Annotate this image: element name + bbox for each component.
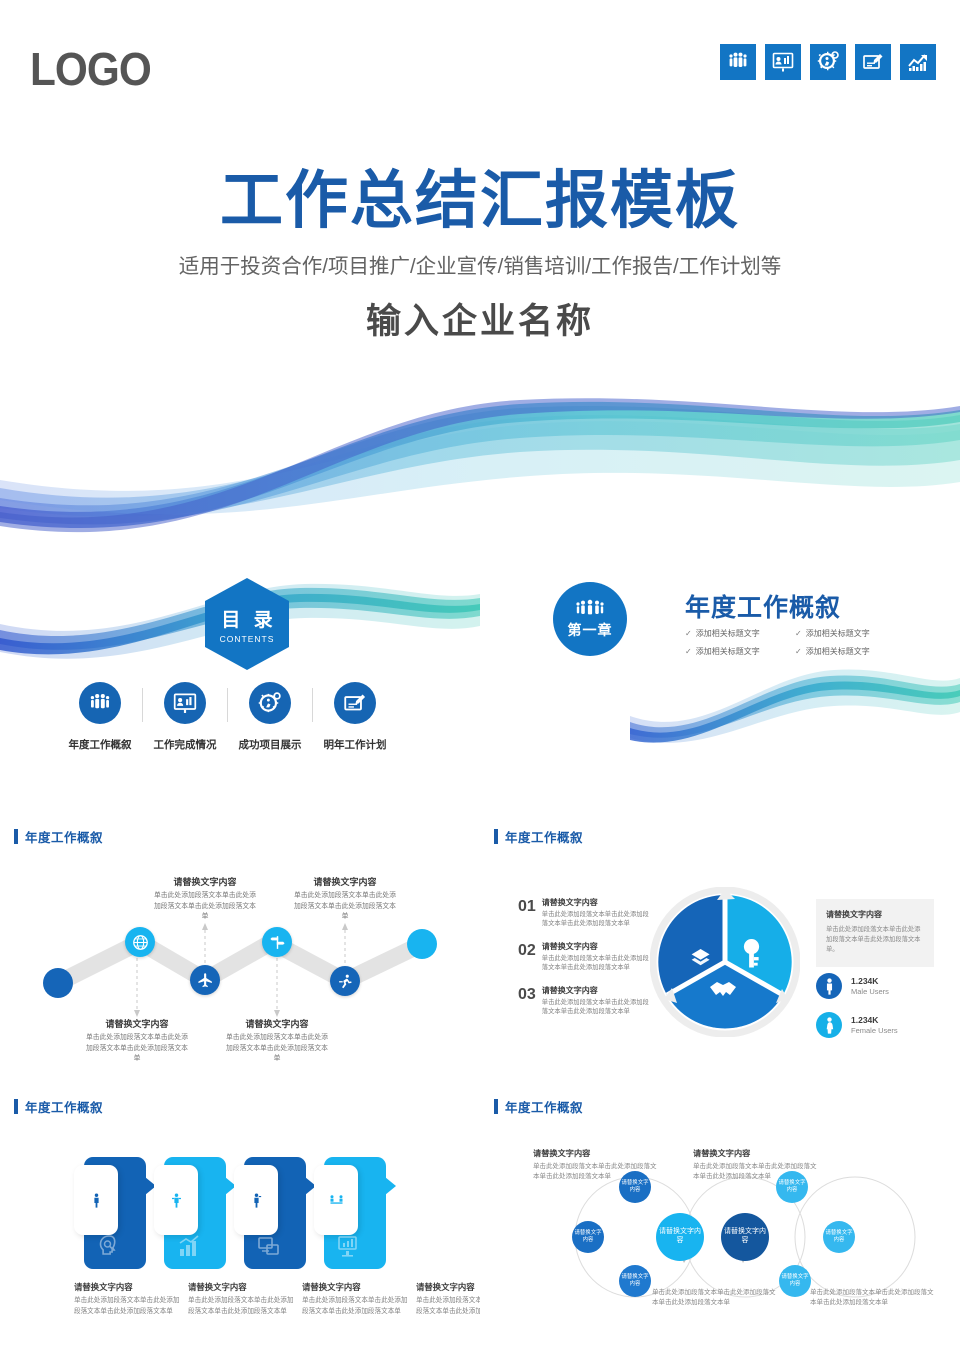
bar-chart-icon [176,1233,202,1259]
zigzag-slide: 年度工作概叙 [0,815,480,1085]
card-icon-panel [74,1165,118,1235]
zigzag-text-3: 请替换文字内容 单击此处添加段落文本单击此处添加段落文本单击此处添加段落文本单 [291,875,399,923]
stat-label: Male Users [851,987,889,996]
wave-graphic-cover [0,380,960,560]
stat-value: 1.234K [851,1015,898,1025]
people-group-icon [79,682,121,724]
male-icon [816,973,842,999]
zigzag-body: 单击此处添加段落文本单击此处添加段落文本单击此处添加段落文本单 [291,891,399,923]
pie-legend-body: 单击此处添加段落文本单击此处添加段落文本单击此处添加段落文本单 [542,910,653,929]
zigzag-body: 单击此处添加段落文本单击此处添加段落文本单击此处添加段落文本单 [83,1033,191,1065]
card-3[interactable] [324,1157,386,1269]
presentation-chart-icon [164,682,206,724]
chapter-badge: 第一章 [553,582,627,656]
cover-icon-row [720,44,936,80]
presentation-chart-icon [765,44,801,80]
pie-legend-list: 01 请替换文字内容 单击此处添加段落文本单击此处添加段落文本单击此处添加段落文… [518,897,653,1029]
cover-main-title: 工作总结汇报模板 [0,168,960,235]
zigzag-text-2: 请替换文字内容 单击此处添加段落文本单击此处添加段落文本单击此处添加段落文本单 [223,1017,331,1065]
stat-male: 1.234K Male Users [816,973,889,999]
cards-slide: 年度工作概叙 [0,1085,480,1352]
card-1[interactable] [164,1157,226,1269]
zigzag-text-0: 请替换文字内容 单击此处添加段落文本单击此处添加段落文本单击此处添加段落文本单 [83,1017,191,1065]
pie-legend-number: 01 [518,897,536,929]
zigzag-body: 单击此处添加段落文本单击此处添加段落文本单击此处添加段落文本单 [151,891,259,923]
contents-item-1[interactable]: 工作完成情况 [143,682,227,752]
pie-box-heading: 请替换文字内容 [826,909,924,920]
gear-person-icon [810,44,846,80]
pie-legend-number: 03 [518,985,536,1017]
zigzag-diagram: 请替换文字内容 单击此处添加段落文本单击此处添加段落文本单击此处添加段落文本单 … [0,815,480,1085]
section-accent-bar [494,829,498,844]
zigzag-end-node [407,929,437,959]
network-body: 单击此处添加段落文本单击此处添加段落文本单击此处添加段落文本单 [810,1288,938,1309]
cover-sub-title: 适用于投资合作/项目推广/企业宣传/销售培训/工作报告/工作计划等 [0,249,960,279]
person-icon [89,1193,104,1208]
network-node-1[interactable]: 请替换文字内容 [572,1221,604,1253]
gear-person-icon [249,682,291,724]
airplane-icon[interactable] [190,965,220,995]
network-diagram: 请替换文字内容 请替换文字内容 请替换文字内容 请替换文字内容 请替换文字内容 … [480,1085,960,1352]
wave-graphic-chapter [630,650,960,755]
cover-slide: LOGO 工作总结汇报模板 适用于投资合作/项目推广/企业宣传/销售培训/工作报… [0,0,960,560]
pie-legend-body: 单击此处添加段落文本单击此处添加段落文本单击此处添加段落文本单 [542,954,653,973]
contents-item-3[interactable]: 明年工作计划 [313,682,397,752]
edit-document-icon [334,682,376,724]
card-pointer [385,1177,396,1195]
contents-item-0[interactable]: 年度工作概叙 [58,682,142,752]
pie-legend-row: 01 请替换文字内容 单击此处添加段落文本单击此处添加段落文本单击此处添加段落文… [518,897,653,929]
contents-item-label: 成功项目展示 [239,737,302,752]
network-text-2: 单击此处添加段落文本单击此处添加段落文本单击此处添加段落文本单 [652,1288,780,1309]
network-hub-right[interactable]: 请替换文字内容 [721,1213,769,1261]
screen-share-icon [256,1233,282,1259]
card-2[interactable] [244,1157,306,1269]
network-text-0: 请替换文字内容 单击此处添加段落文本单击此处添加段落文本单击此处添加段落文本单 [533,1147,661,1183]
pie-legend-heading: 请替换文字内容 [542,941,653,952]
chapter-bullet: ✓添加相关标题文字 [685,628,795,639]
card-heading: 请替换文字内容 [416,1281,480,1293]
pie-legend-number: 02 [518,941,536,973]
check-icon: ✓ [685,629,692,638]
network-node-2[interactable]: 请替换文字内容 [619,1265,651,1297]
card-text-2: 请替换文字内容 单击此处添加段落文本单击此处添加段落文本单击此处添加段落文本单 [302,1281,410,1317]
card-heading: 请替换文字内容 [74,1281,182,1293]
contents-hex-en: CONTENTS [220,634,275,644]
section-title: 年度工作概叙 [505,827,583,846]
network-heading: 请替换文字内容 [693,1147,821,1159]
contents-item-label: 明年工作计划 [324,737,387,752]
network-body: 单击此处添加段落文本单击此处添加段落文本单击此处添加段落文本单 [533,1162,661,1183]
chapter-number: 第一章 [568,620,613,640]
section-title: 年度工作概叙 [25,1097,103,1116]
network-heading: 请替换文字内容 [533,1147,661,1159]
chapter-slide: 第一章 年度工作概叙 ✓添加相关标题文字 ✓添加相关标题文字 ✓添加相关标题文字… [480,560,960,815]
card-body: 单击此处添加段落文本单击此处添加段落文本单击此处添加段落文本单 [188,1296,296,1317]
section-header: 年度工作概叙 [14,1097,103,1116]
contents-slide: 目 录 CONTENTS 年度工作概叙 工作完成情况 [0,560,480,815]
logo-text: LOGO [30,42,151,96]
zigzag-body: 单击此处添加段落文本单击此处添加段落文本单击此处添加段落文本单 [223,1033,331,1065]
zigzag-start-node [43,968,73,998]
network-node-label: 请替换文字内容 [572,1230,604,1244]
stat-label: Female Users [851,1026,898,1035]
check-icon: ✓ [795,629,802,638]
network-hub-left[interactable]: 请替换文字内容 [656,1213,704,1261]
pie-description-box: 请替换文字内容 单击此处添加段落文本单击此处添加段落文本单击此处添加段落文本单。 [816,899,934,967]
pie-legend-heading: 请替换文字内容 [542,985,653,996]
card-body: 单击此处添加段落文本单击此处添加段落文本单击此处添加段落文本单 [416,1296,480,1317]
pie-legend-heading: 请替换文字内容 [542,897,653,908]
head-idea-icon [96,1233,122,1259]
zigzag-heading: 请替换文字内容 [151,875,259,888]
contents-item-row: 年度工作概叙 工作完成情况 成功项目展示 明年工作计 [58,682,438,752]
section-accent-bar [14,1099,18,1114]
chapter-bullet-label: 添加相关标题文字 [806,628,870,639]
signpost-icon[interactable] [262,927,292,957]
growth-chart-icon [900,44,936,80]
card-body: 单击此处添加段落文本单击此处添加段落文本单击此处添加段落文本单 [74,1296,182,1317]
cover-company-name: 输入企业名称 [0,293,960,344]
network-text-3: 单击此处添加段落文本单击此处添加段落文本单击此处添加段落文本单 [810,1288,938,1309]
people-group-icon [720,44,756,80]
zigzag-heading: 请替换文字内容 [291,875,399,888]
network-node-label: 请替换文字内容 [779,1274,811,1288]
network-node-label: 请替换文字内容 [619,1274,651,1288]
network-node-4[interactable]: 请替换文字内容 [823,1221,855,1253]
pie-chart-slide: 年度工作概叙 01 请替换文字内容 单击此处添加段落文本单击此处添加段落文本单击… [480,815,960,1085]
network-body: 单击此处添加段落文本单击此处添加段落文本单击此处添加段落文本单 [693,1162,821,1183]
female-icon [816,1012,842,1038]
card-text-0: 请替换文字内容 单击此处添加段落文本单击此处添加段落文本单击此处添加段落文本单 [74,1281,182,1317]
globe-icon[interactable] [125,927,155,957]
pie-legend-row: 02 请替换文字内容 单击此处添加段落文本单击此处添加段落文本单击此处添加段落文… [518,941,653,973]
zigzag-text-1: 请替换文字内容 单击此处添加段落文本单击此处添加段落文本单击此处添加段落文本单 [151,875,259,923]
contents-hex-cn: 目 录 [217,605,276,632]
stat-value: 1.234K [851,976,889,986]
network-hub-label: 请替换文字内容 [656,1228,704,1246]
edit-document-icon [855,44,891,80]
card-text-3: 请替换文字内容 单击此处添加段落文本单击此处添加段落文本单击此处添加段落文本单 [416,1281,480,1317]
pie-box-body: 单击此处添加段落文本单击此处添加段落文本单击此处添加段落文本单。 [826,925,924,955]
contents-item-label: 年度工作概叙 [69,737,132,752]
card-heading: 请替换文字内容 [188,1281,296,1293]
card-heading: 请替换文字内容 [302,1281,410,1293]
zigzag-heading: 请替换文字内容 [83,1017,191,1030]
pie-legend-body: 单击此处添加段落文本单击此处添加段落文本单击此处添加段落文本单 [542,998,653,1017]
zigzag-heading: 请替换文字内容 [223,1017,331,1030]
chapter-bullet: ✓添加相关标题文字 [795,628,905,639]
monitor-chart-icon [336,1233,362,1259]
chapter-title: 年度工作概叙 [685,588,841,624]
pie-legend-row: 03 请替换文字内容 单击此处添加段落文本单击此处添加段落文本单击此处添加段落文… [518,985,653,1017]
card-body: 单击此处添加段落文本单击此处添加段落文本单击此处添加段落文本单 [302,1296,410,1317]
meeting-icon [329,1193,344,1208]
people-group-icon [573,599,607,619]
person-icon [169,1193,184,1208]
pie-chart [650,887,800,1037]
card-text-row: 请替换文字内容 单击此处添加段落文本单击此处添加段落文本单击此处添加段落文本单 … [74,1281,480,1317]
chapter-bullet-label: 添加相关标题文字 [696,628,760,639]
stat-female: 1.234K Female Users [816,1012,898,1038]
section-header: 年度工作概叙 [494,827,583,846]
contents-item-label: 工作完成情况 [154,737,217,752]
person-icon [249,1193,264,1208]
network-text-1: 请替换文字内容 单击此处添加段落文本单击此处添加段落文本单击此处添加段落文本单 [693,1147,821,1183]
runner-icon[interactable] [330,966,360,996]
network-body: 单击此处添加段落文本单击此处添加段落文本单击此处添加段落文本单 [652,1288,780,1309]
slide-deck-page: LOGO 工作总结汇报模板 适用于投资合作/项目推广/企业宣传/销售培训/工作报… [0,0,960,1352]
contents-item-2[interactable]: 成功项目展示 [228,682,312,752]
network-slide: 年度工作概叙 请替换文字内容 请替换文字内容 请替换文字内容 [480,1085,960,1352]
card-0[interactable] [84,1157,146,1269]
cover-title-block: 工作总结汇报模板 适用于投资合作/项目推广/企业宣传/销售培训/工作报告/工作计… [0,168,960,344]
card-text-1: 请替换文字内容 单击此处添加段落文本单击此处添加段落文本单击此处添加段落文本单 [188,1281,296,1317]
card-icon-panel [314,1165,358,1235]
card-icon-panel [234,1165,278,1235]
card-row [84,1157,386,1269]
network-node-5[interactable]: 请替换文字内容 [779,1265,811,1297]
network-hub-label: 请替换文字内容 [721,1228,769,1246]
card-icon-panel [154,1165,198,1235]
network-node-label: 请替换文字内容 [823,1230,855,1244]
